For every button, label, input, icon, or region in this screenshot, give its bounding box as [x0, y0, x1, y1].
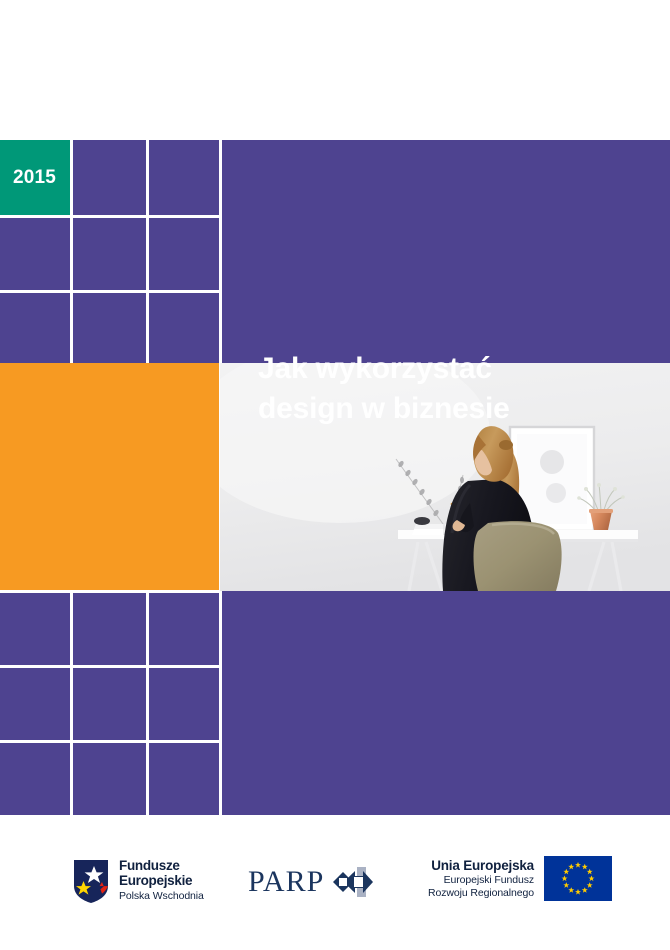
parp-diamond-arrow-mark — [330, 864, 376, 900]
fe-line-3: Polska Wschodnia — [119, 889, 204, 903]
grid-gutter-horizontal — [0, 290, 222, 293]
title-line-2: design w biznesie — [258, 389, 658, 429]
ue-line-2: Europejski Fundusz — [428, 874, 534, 887]
parp-logo: PARP — [248, 864, 376, 900]
fe-line-1: Fundusze — [119, 859, 204, 874]
eu-flag — [544, 856, 612, 901]
grid-gutter-horizontal — [0, 590, 222, 593]
unia-europejska-wordmark: Unia Europejska Europejski Fundusz Rozwo… — [428, 858, 534, 900]
fundusze-europejskie-logo: Fundusze Europejskie Polska Wschodnia — [72, 858, 204, 904]
grid-gutter-horizontal — [0, 215, 222, 218]
fe-line-2: Europejskie — [119, 874, 204, 889]
fundusze-europejskie-wordmark: Fundusze Europejskie Polska Wschodnia — [119, 859, 204, 903]
cover-page: 2015 — [0, 0, 670, 950]
unia-europejska-logo: Unia Europejska Europejski Fundusz Rozwo… — [428, 856, 612, 901]
page-title: Jak wykorzystać design w biznesie — [258, 349, 658, 429]
ue-line-3: Rozwoju Regionalnego — [428, 887, 534, 900]
eu-funds-stars-flag-mark — [72, 858, 110, 904]
year-tile: 2015 — [0, 140, 70, 215]
year-label: 2015 — [0, 168, 56, 187]
orange-accent-block — [0, 363, 219, 590]
footer-logo-bar: Fundusze Europejskie Polska Wschodnia PA… — [0, 846, 670, 926]
mosaic-band: 2015 — [0, 140, 670, 815]
grid-gutter-horizontal — [0, 665, 222, 668]
ue-line-1: Unia Europejska — [428, 858, 534, 874]
grid-gutter-horizontal — [0, 740, 222, 743]
title-line-1: Jak wykorzystać — [258, 349, 658, 389]
parp-wordmark: PARP — [248, 867, 324, 897]
